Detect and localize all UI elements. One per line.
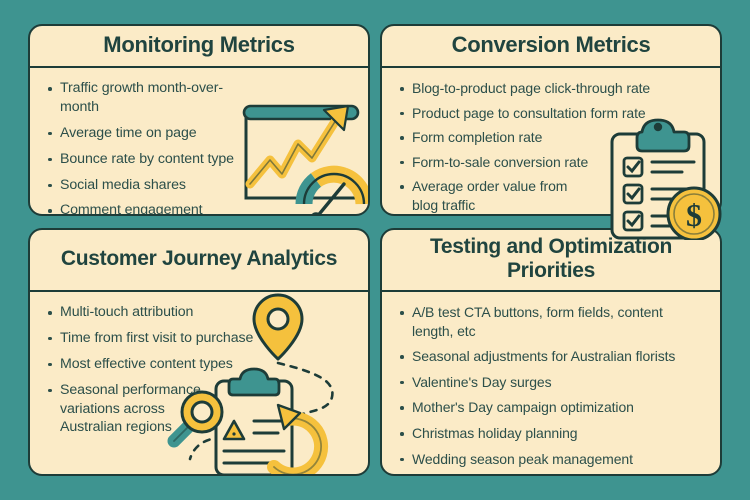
bullet-list-journey: Multi-touch attribution Time from first … xyxy=(46,303,261,437)
bullet-list-testing: A/B test CTA buttons, form fields, conte… xyxy=(398,303,706,468)
list-item: Valentine's Day surges xyxy=(398,373,706,392)
list-item: Time from first visit to purchase xyxy=(46,329,261,348)
bullet-list-monitoring: Traffic growth month-over-month Average … xyxy=(46,79,261,214)
list-item: Product page to consultation form rate xyxy=(398,104,706,123)
list-item: Most effective content types xyxy=(46,355,261,374)
list-item: Multi-touch attribution xyxy=(46,303,261,322)
list-item: Average time on page xyxy=(46,124,261,143)
card-monitoring-metrics: Monitoring Metrics xyxy=(28,24,370,216)
card-header-journey: Customer Journey Analytics xyxy=(30,230,368,292)
card-header-monitoring: Monitoring Metrics xyxy=(30,26,368,68)
card-body-testing: A/B test CTA buttons, form fields, conte… xyxy=(382,292,720,474)
card-testing-optimization-priorities: Testing and Optimization Priorities A/B … xyxy=(380,228,722,476)
card-title: Customer Journey Analytics xyxy=(61,247,337,271)
infographic-canvas: Monitoring Metrics xyxy=(0,0,750,500)
list-item: Traffic growth month-over-month xyxy=(46,79,261,117)
card-conversion-metrics: Conversion Metrics Blog-to-product page … xyxy=(380,24,722,216)
list-item: Seasonal adjustments for Australian flor… xyxy=(398,347,706,366)
card-header-conversion: Conversion Metrics xyxy=(382,26,720,68)
list-item: Comment engagement xyxy=(46,201,261,214)
list-item: Christmas holiday planning xyxy=(398,424,706,443)
list-item: Wedding season peak management xyxy=(398,450,706,469)
card-title: Conversion Metrics xyxy=(452,33,651,58)
list-item: Blog-to-product page click-through rate xyxy=(398,79,706,98)
list-item: Form-to-sale conversion rate xyxy=(398,153,706,172)
list-item: Average order value from blog traffic xyxy=(398,177,582,214)
card-header-testing: Testing and Optimization Priorities xyxy=(382,230,720,292)
list-item: Bounce rate by content type xyxy=(46,150,261,169)
card-customer-journey-analytics: Customer Journey Analytics xyxy=(28,228,370,476)
card-title: Testing and Optimization Priorities xyxy=(392,235,710,282)
list-item: Social media shares xyxy=(46,176,261,195)
list-item: A/B test CTA buttons, form fields, conte… xyxy=(398,303,706,340)
list-item: Form completion rate xyxy=(398,128,706,147)
card-body-journey: Multi-touch attribution Time from first … xyxy=(30,292,368,474)
card-title: Monitoring Metrics xyxy=(103,33,294,58)
list-item: Mother's Day campaign optimization xyxy=(398,398,706,417)
bullet-list-conversion: Blog-to-product page click-through rate … xyxy=(398,79,706,214)
list-item: Seasonal performance variations across A… xyxy=(46,381,225,438)
card-body-conversion: Blog-to-product page click-through rate … xyxy=(382,68,720,214)
card-body-monitoring: Traffic growth month-over-month Average … xyxy=(30,68,368,214)
